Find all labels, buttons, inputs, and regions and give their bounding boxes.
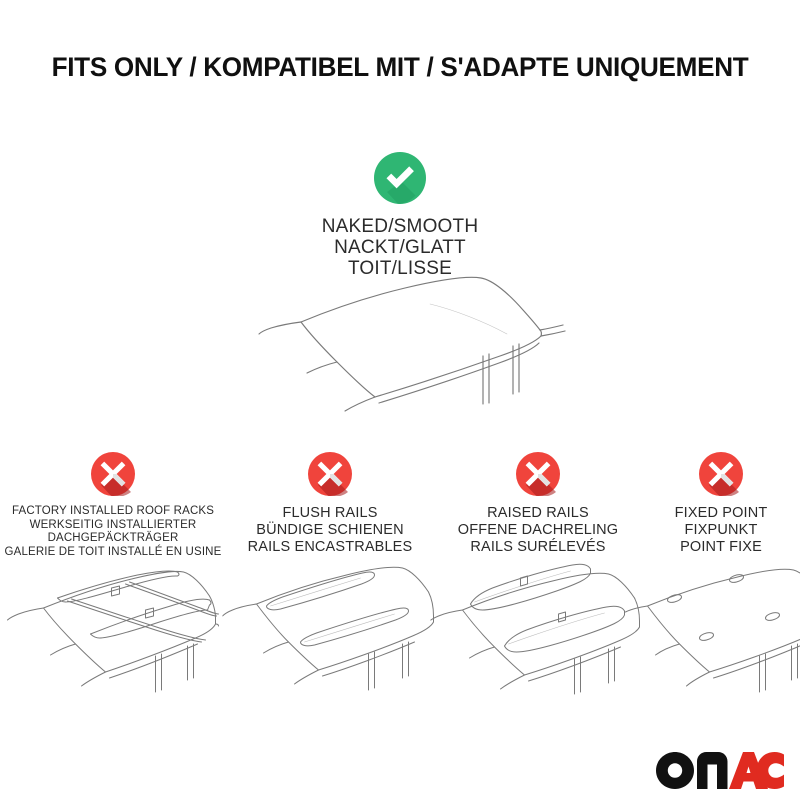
denied-label-en: FIXED POINT bbox=[642, 505, 800, 522]
denied-labels: FLUSH RAILS BÜNDIGE SCHIENEN RAILS ENCAS… bbox=[226, 505, 434, 556]
page-title: FITS ONLY / KOMPATIBEL MIT / S'ADAPTE UN… bbox=[6, 52, 794, 83]
approved-label-de: NACKT/GLATT bbox=[0, 237, 800, 258]
x-circle-icon bbox=[516, 452, 560, 496]
denied-label-en: FLUSH RAILS bbox=[226, 505, 434, 522]
car-roof-raised-rails-illustration bbox=[431, 556, 646, 696]
denied-item-flush-rails: FLUSH RAILS BÜNDIGE SCHIENEN RAILS ENCAS… bbox=[226, 452, 434, 702]
car-roof-fixed-point-illustration bbox=[624, 556, 800, 696]
denied-label-de: BÜNDIGE SCHIENEN bbox=[226, 522, 434, 539]
approved-labels: NAKED/SMOOTH NACKT/GLATT TOIT/LISSE bbox=[0, 216, 800, 279]
denied-label-en: FACTORY INSTALLED ROOF RACKS bbox=[0, 505, 226, 519]
denied-label-de-2: DACHGEPÄCKTRÄGER bbox=[0, 532, 226, 546]
denied-label-fr: POINT FIXE bbox=[642, 539, 800, 556]
denied-label-fr: RAILS SURÉLEVÉS bbox=[434, 539, 642, 556]
denied-item-factory-installed-roof-racks: FACTORY INSTALLED ROOF RACKS WERKSEITIG … bbox=[0, 452, 226, 702]
denied-item-raised-rails: RAISED RAILS OFFENE DACHRELING RAILS SUR… bbox=[434, 452, 642, 702]
denied-label-en: RAISED RAILS bbox=[434, 505, 642, 522]
denied-labels: RAISED RAILS OFFENE DACHRELING RAILS SUR… bbox=[434, 505, 642, 556]
car-roof-flush-rails-illustration bbox=[223, 556, 438, 696]
denied-item-fixed-point: FIXED POINT FIXPUNKT POINT FIXE bbox=[642, 452, 800, 702]
car-roof-factory-racks-illustration bbox=[6, 556, 221, 696]
check-circle-icon bbox=[374, 152, 426, 204]
denied-label-de: FIXPUNKT bbox=[642, 522, 800, 539]
denied-labels: FACTORY INSTALLED ROOF RACKS WERKSEITIG … bbox=[0, 505, 226, 559]
omac-logo bbox=[655, 750, 785, 790]
approved-label-en: NAKED/SMOOTH bbox=[0, 216, 800, 237]
x-circle-icon bbox=[308, 452, 352, 496]
denied-label-de-1: WERKSEITIG INSTALLIERTER bbox=[0, 519, 226, 533]
x-circle-icon bbox=[699, 452, 743, 496]
approved-section: NAKED/SMOOTH NACKT/GLATT TOIT/LISSE bbox=[0, 152, 800, 279]
x-circle-icon bbox=[91, 452, 135, 496]
car-roof-naked-smooth-illustration bbox=[255, 272, 575, 412]
denied-label-de: OFFENE DACHRELING bbox=[434, 522, 642, 539]
denied-labels: FIXED POINT FIXPUNKT POINT FIXE bbox=[642, 505, 800, 556]
denied-label-fr: RAILS ENCASTRABLES bbox=[226, 539, 434, 556]
denied-section: FACTORY INSTALLED ROOF RACKS WERKSEITIG … bbox=[0, 452, 800, 702]
